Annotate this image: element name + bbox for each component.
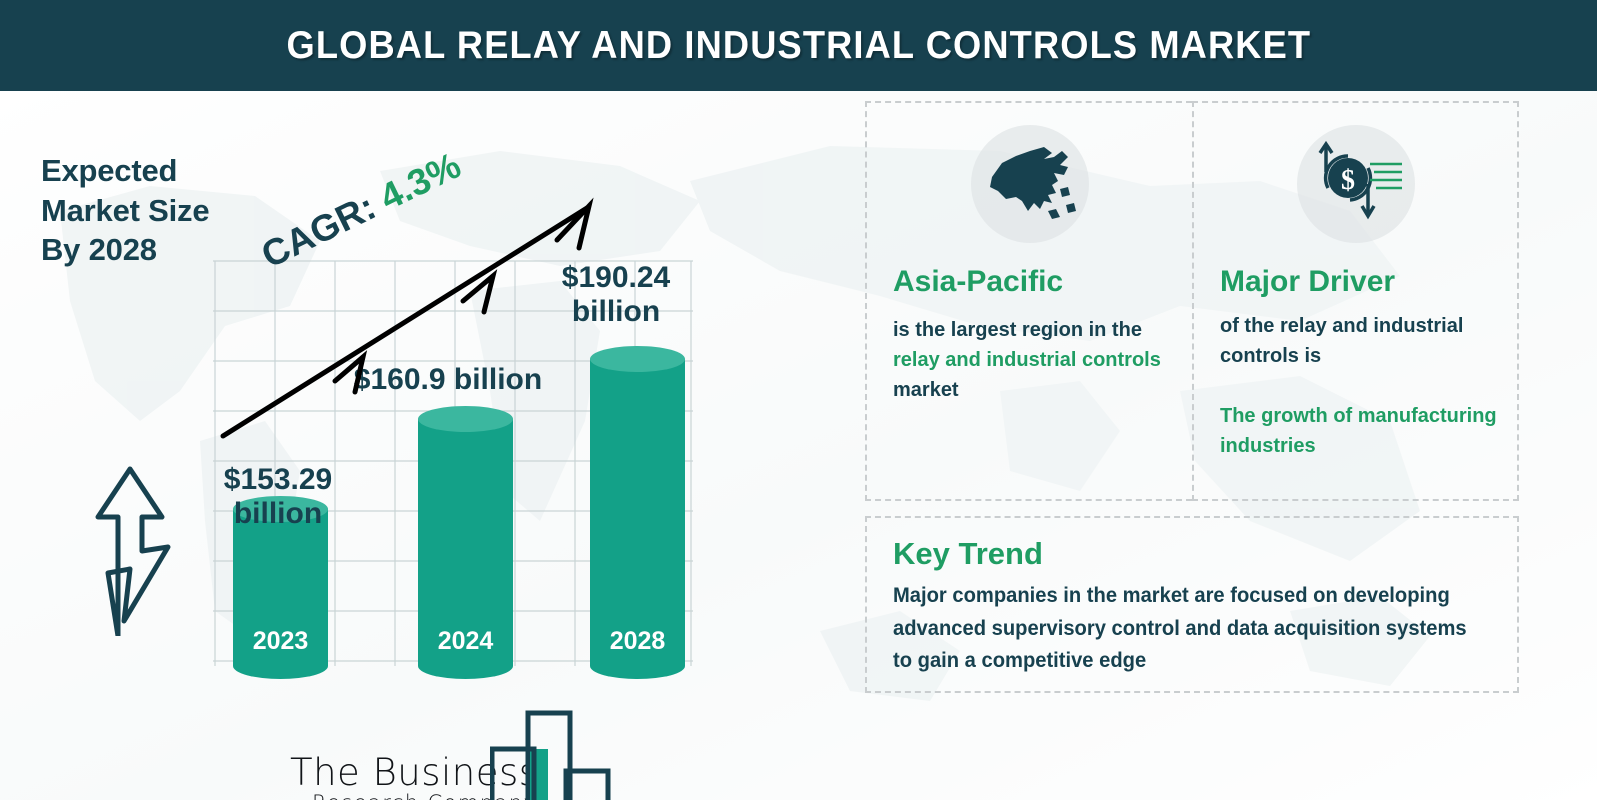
chart-pane: Expected Market Size By 2028: [0, 91, 860, 800]
card-region-body-part-2: relay and industrial controls: [893, 349, 1161, 371]
asia-map-icon: [982, 141, 1078, 227]
card-driver: $ Major Driver of the relay and industri…: [1192, 101, 1519, 501]
card-driver-body-line-2: The growth of manufacturing industries: [1220, 401, 1503, 461]
growth-bolt-icon: [78, 451, 188, 636]
card-region-body-part-1: is the largest region in the: [893, 319, 1142, 341]
card-region: Asia-Pacific is the largest region in th…: [865, 101, 1192, 501]
value-label-2023: $153.29 billion: [178, 463, 378, 531]
card-trend-body: Major companies in the market are focuse…: [893, 580, 1469, 678]
card-region-heading: Asia-Pacific: [893, 265, 1063, 299]
card-driver-body-line-1: of the relay and industrial controls is: [1220, 311, 1503, 371]
bar-2028-year-label: 2028: [590, 627, 685, 656]
card-trend: Key Trend Major companies in the market …: [865, 516, 1519, 693]
money-growth-icon-wrap: $: [1297, 125, 1415, 243]
card-region-body: is the largest region in the relay and i…: [893, 315, 1178, 405]
page-title: GLOBAL RELAY AND INDUSTRIAL CONTROLS MAR…: [286, 24, 1311, 68]
card-driver-heading: Major Driver: [1220, 265, 1395, 299]
money-growth-icon: $: [1306, 138, 1406, 230]
card-trend-heading: Key Trend: [893, 536, 1043, 572]
bar-2024-year-label: 2024: [418, 627, 513, 656]
header-bar: GLOBAL RELAY AND INDUSTRIAL CONTROLS MAR…: [0, 0, 1597, 91]
card-region-body-part-3: market: [893, 379, 959, 401]
infographic-body: Expected Market Size By 2028: [0, 91, 1597, 800]
asia-map-icon-wrap: [971, 125, 1089, 243]
svg-text:$: $: [1341, 165, 1355, 196]
logo-bars-icon: [490, 709, 630, 800]
company-logo: The Business Research Company: [290, 709, 650, 800]
bar-2023-year-label: 2023: [233, 627, 328, 656]
